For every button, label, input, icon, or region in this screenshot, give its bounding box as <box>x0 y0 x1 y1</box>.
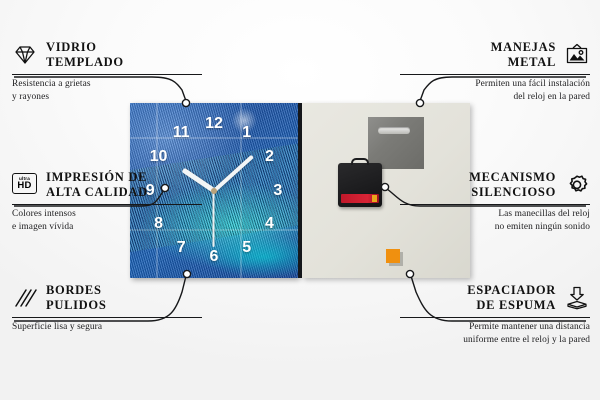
feature-divider <box>12 74 202 75</box>
clock-numeral-2: 2 <box>265 148 274 166</box>
feature-header: MECANISMO SILENCIOSO <box>400 170 590 201</box>
clock-numeral-6: 6 <box>210 248 219 266</box>
feature-manejas-metal[interactable]: MANEJAS METAL Permiten una fácil instala… <box>400 40 590 103</box>
feature-divider <box>400 74 590 75</box>
diamond-icon <box>12 43 38 67</box>
feature-title: ESPACIADOR DE ESPUMA <box>467 283 556 314</box>
feature-divider <box>400 204 590 205</box>
clock-numeral-5: 5 <box>242 239 251 257</box>
feature-impresion-alta-calidad[interactable]: ultra HD IMPRESIÓN DE ALTA CALIDAD Color… <box>12 170 202 233</box>
feature-description: Superficie lisa y segura <box>12 321 202 334</box>
polished-edges-icon <box>12 286 38 310</box>
feature-vidrio-templado[interactable]: VIDRIO TEMPLADO Resistencia a grietas y … <box>12 40 202 103</box>
ultra-hd-icon: ultra HD <box>12 173 38 197</box>
clock-center-pin <box>211 188 217 194</box>
callout-dot-espaciador <box>406 270 413 277</box>
feature-bordes-pulidos[interactable]: BORDES PULIDOS Superficie lisa y segura <box>12 283 202 334</box>
infographic-stage: 12 1 2 3 4 5 6 7 8 9 10 11 <box>0 0 600 400</box>
feature-header: VIDRIO TEMPLADO <box>12 40 202 71</box>
callout-dot-bordes <box>183 270 190 277</box>
clock-numeral-9: 9 <box>146 182 155 200</box>
clock-numeral-12: 12 <box>205 115 223 133</box>
gear-icon <box>564 173 590 197</box>
feature-title: MECANISMO SILENCIOSO <box>469 170 556 201</box>
clock-numeral-8: 8 <box>154 215 163 233</box>
foam-spacer-arrow-icon <box>564 286 590 310</box>
feature-description: Permiten una fácil instalación del reloj… <box>400 78 590 103</box>
feature-title: BORDES PULIDOS <box>46 283 106 314</box>
clock-numeral-11: 11 <box>173 124 190 142</box>
feature-header: ultra HD IMPRESIÓN DE ALTA CALIDAD <box>12 170 202 201</box>
feature-title: IMPRESIÓN DE ALTA CALIDAD <box>46 170 148 201</box>
feature-header: ESPACIADOR DE ESPUMA <box>400 283 590 314</box>
feature-description: Permite mantener una distancia uniforme … <box>400 321 590 346</box>
feature-divider <box>12 317 202 318</box>
feature-header: MANEJAS METAL <box>400 40 590 71</box>
feature-title: MANEJAS METAL <box>491 40 556 71</box>
feature-header: BORDES PULIDOS <box>12 283 202 314</box>
callout-dot-mecanismo <box>381 183 388 190</box>
feature-divider <box>12 204 202 205</box>
feature-description: Colores intensos e imagen vívida <box>12 208 202 233</box>
feature-description: Resistencia a grietas y rayones <box>12 78 202 103</box>
clock-numeral-3: 3 <box>273 182 282 200</box>
feature-divider <box>400 317 590 318</box>
feature-title: VIDRIO TEMPLADO <box>46 40 124 71</box>
feature-espaciador-espuma[interactable]: ESPACIADOR DE ESPUMA Permite mantener un… <box>400 283 590 346</box>
clock-numeral-10: 10 <box>150 148 168 166</box>
picture-frame-hanger-icon <box>564 43 590 67</box>
clock-numeral-4: 4 <box>265 215 274 233</box>
feature-description: Las manecillas del reloj no emiten ningú… <box>400 208 590 233</box>
feature-mecanismo-silencioso[interactable]: MECANISMO SILENCIOSO Las manecillas del … <box>400 170 590 233</box>
clock-numeral-7: 7 <box>177 239 186 257</box>
clock-numeral-1: 1 <box>242 124 251 142</box>
